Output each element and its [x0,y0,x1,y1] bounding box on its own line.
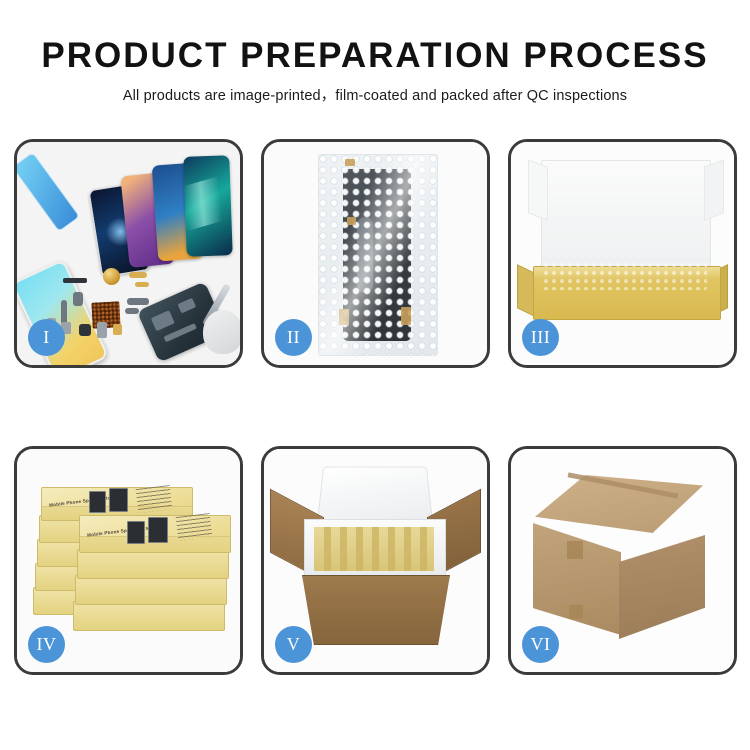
step-badge-4: IV [28,626,65,663]
header: PRODUCT PREPARATION PROCESS All products… [0,0,750,105]
phone-teal [183,155,232,257]
carton-body [302,575,450,645]
box-art-screen-2a [127,521,145,544]
packed-yellow-boxes [314,527,434,571]
part-gold-flex-2 [135,282,149,287]
screen-protector-glass [17,152,80,232]
step-badge-5: V [275,626,312,663]
part-camera-module [79,324,91,336]
hand [203,310,240,354]
box-stack: Mobile Phone Spare Parts Mobile Phone Sp… [33,475,231,651]
page-subtitle: All products are image-printed，film-coat… [0,84,750,105]
part-flex-cable-3 [127,298,149,305]
carton-tab-lower [569,605,583,619]
page-title: PRODUCT PREPARATION PROCESS [0,38,750,75]
bubble-wrap-bag [318,154,438,356]
box-art-screen-2b [148,517,168,543]
process-step-card-2: II [261,139,490,368]
part-gold-chip [113,324,122,335]
coil-component [103,268,120,285]
part-flex-cable-2 [73,292,83,306]
process-step-card-3: III [508,139,737,368]
part-flex-cable-4 [125,308,139,314]
box-art-textblock-1 [136,485,173,513]
part-strip [63,278,87,283]
step-badge-2: II [275,319,312,356]
process-step-card-5: V [261,446,490,675]
box-art-screen-1b [109,488,128,512]
process-step-grid: I II [14,139,736,675]
process-step-card-6: VI [508,446,737,675]
box-layer-front-4 [75,575,227,605]
box-layer-front-5 [73,601,225,631]
process-step-card-4: Mobile Phone Spare Parts Mobile Phone Sp… [14,446,243,675]
part-speaker [97,322,107,338]
step-badge-1: I [28,319,65,356]
foam-lid [316,467,433,527]
phone-lineup [95,156,240,274]
carton-tab-upper [567,541,583,559]
product-preparation-infographic: PRODUCT PREPARATION PROCESS All products… [0,0,750,750]
box-layer-front-3 [77,549,229,579]
step-badge-3: III [522,319,559,356]
box-art-screen-1a [89,491,106,513]
bubble-wrap-filling [543,262,707,290]
step-badge-6: VI [522,626,559,663]
carton-right-face [619,535,705,639]
process-step-card-1: I [14,139,243,368]
box-art-textblock-2 [176,513,213,541]
plastic-sheen [319,155,437,355]
part-gold-flex [129,272,147,278]
